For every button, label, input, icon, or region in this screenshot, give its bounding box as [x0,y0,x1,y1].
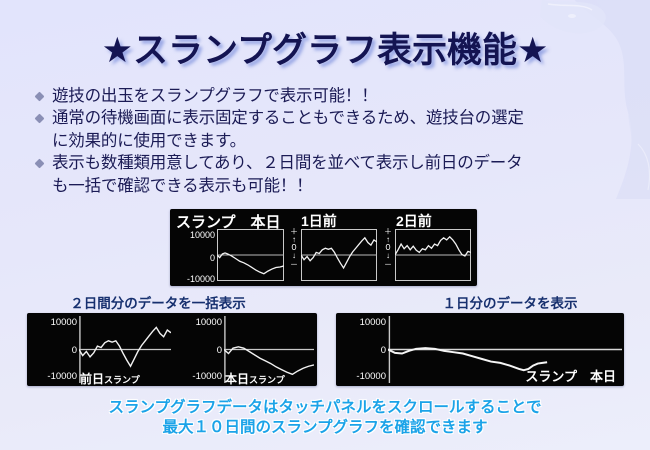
bullet-text: に効果的に使用できます。 [52,131,246,152]
bullet-item: 通常の待機画面に表示固定することもできるため、遊技台の選定 [36,108,636,129]
two-day-ga-ylabel-zero: 0 [27,346,77,356]
three-panel-g3-axis-marks: ＋ ↑ ０ ↓ － [382,228,394,269]
one-day-corner-label: スランプ 本日 [525,366,616,385]
caption-one-day: １日分のデータを表示 [400,292,620,312]
slump-chart-2day [395,229,471,281]
label-sub: スランプ [104,375,140,385]
two-day-lcd-panel: 10000 0 -10000 前日スランプ 10000 0 -10000 本日ス… [27,313,317,386]
page-title: ★スランプグラフ表示機能★ [0,22,650,73]
three-panel-g3-title: 2日前 [396,211,432,231]
three-panel-graph-2day [395,229,471,281]
two-day-graph-today-label: 本日スランプ [225,370,285,387]
two-day-ga-ylabel-max: 10000 [27,318,77,328]
three-panel-graph-today [217,229,284,281]
three-panel-g1-ylabel-max: 10000 [170,231,215,240]
two-day-gb-ylabel-zero: 0 [172,346,222,356]
label-main: 本日 [225,372,249,386]
label-main: 前日 [80,372,104,386]
bullet-item-continuation: も一括で確認できる表示も可能！！ [36,176,636,197]
two-day-ga-ylabel-min: -10000 [27,372,77,382]
one-day-ylabel-zero: 0 [336,346,386,356]
three-panel-graph-1day [301,229,377,281]
caption-two-day: ２日間分のデータを一括表示 [18,292,298,312]
bullet-text: 遊技の出玉をスランプグラフで表示可能！！ [52,86,378,107]
three-panel-g2-title: 1日前 [301,211,337,231]
three-panel-g2-axis-marks: ＋ ↑ ０ ↓ － [288,228,300,269]
three-day-lcd-panel: スランプ 本日 10000 0 -10000 1日前 ＋ ↑ ０ ↓ － [170,209,477,286]
two-day-graph-previous-label: 前日スランプ [80,370,140,387]
slide-canvas: ★スランプグラフ表示機能★ 遊技の出玉をスランプグラフで表示可能！！ 通常の待機… [0,0,650,450]
diamond-bullet-icon [35,92,45,102]
bullet-item-continuation: に効果的に使用できます。 [36,131,636,152]
slump-chart-today [217,229,284,281]
footer-line-2: 最大１０日間のスランプグラフを確認できます [0,418,650,438]
three-panel-g1-ylabel-zero: 0 [170,254,215,263]
bullet-text: 通常の待機画面に表示固定することもできるため、遊技台の選定 [52,108,524,129]
one-day-ylabel-max: 10000 [336,318,386,328]
footer-line-1: スランプグラフデータはタッチパネルをスクロールすることで [0,398,650,418]
two-day-gb-ylabel-max: 10000 [172,318,222,328]
bullet-list: 遊技の出玉をスランプグラフで表示可能！！ 通常の待機画面に表示固定することもでき… [36,86,636,198]
one-day-ylabel-min: -10000 [336,372,386,382]
bullet-text: 表示も数種類用意してあり、２日間を並べて表示し前日のデータ [52,153,522,174]
diamond-bullet-icon [35,159,45,169]
diamond-bullet-icon [35,114,45,124]
two-day-gb-ylabel-min: -10000 [170,372,222,382]
bullet-item: 表示も数種類用意してあり、２日間を並べて表示し前日のデータ [36,153,636,174]
label-sub: スランプ [249,375,285,385]
slump-chart-1day [301,229,377,281]
axis-minus-label: － [288,261,300,269]
three-panel-g1-ylabel-min: -10000 [170,275,215,284]
bullet-text: も一括で確認できる表示も可能！！ [52,176,312,197]
one-day-lcd-panel: 10000 0 -10000 スランプ 本日 [336,313,624,386]
bullet-item: 遊技の出玉をスランプグラフで表示可能！！ [36,86,636,107]
axis-minus-label: － [382,261,394,269]
footer-note: スランプグラフデータはタッチパネルをスクロールすることで 最大１０日間のスランプ… [0,398,650,438]
